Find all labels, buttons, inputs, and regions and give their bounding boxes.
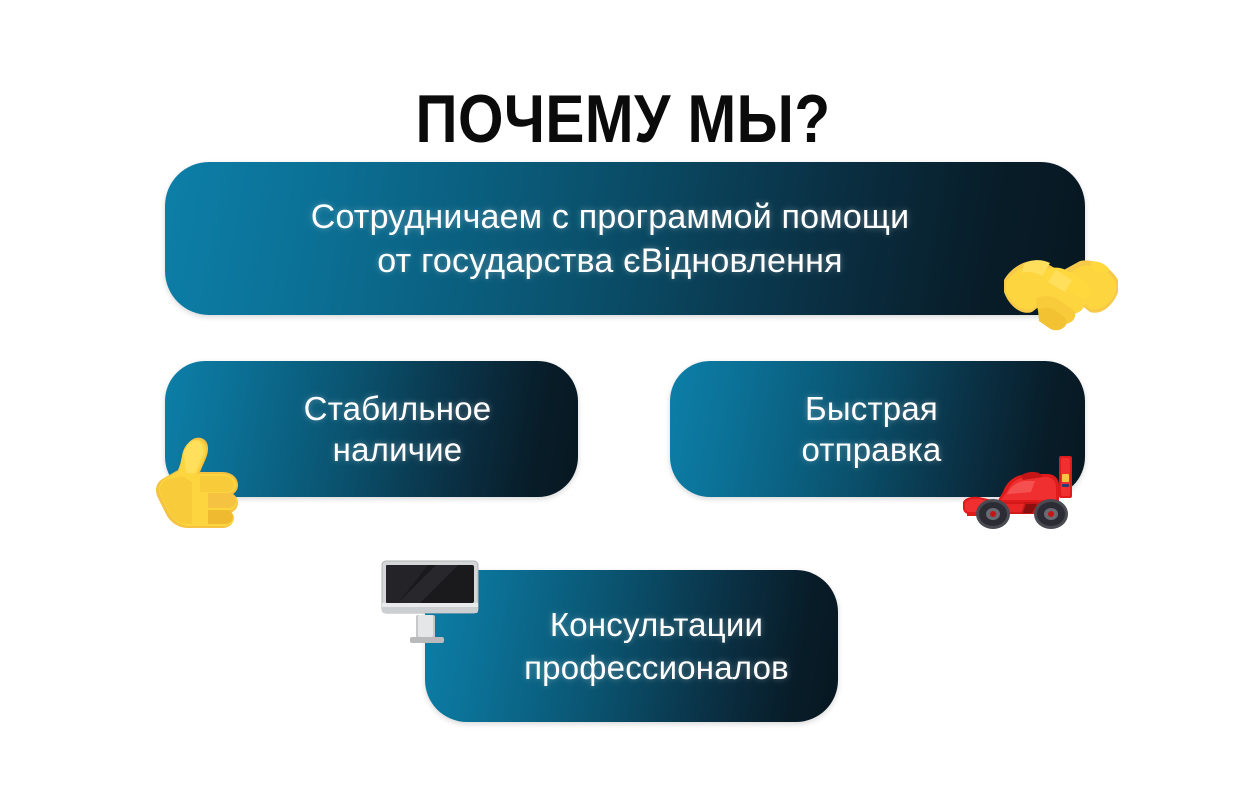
feature-card-shipping-label: Быстрая отправка — [802, 388, 954, 470]
racing-car-icon — [963, 452, 1075, 530]
feature-card-stock-label: Стабильное наличие — [238, 388, 506, 470]
handshake-icon — [1002, 240, 1120, 335]
feature-card-cooperation[interactable]: Сотрудничаем с программой помощи от госу… — [165, 162, 1085, 315]
slide-canvas: ПОЧЕМУ МЫ? Сотрудничаем с программой пом… — [0, 0, 1246, 800]
desktop-computer-icon — [380, 559, 480, 645]
feature-card-cooperation-label: Сотрудничаем с программой помощи от госу… — [281, 195, 970, 283]
feature-card-consulting-label: Консультации профессионалов — [468, 603, 795, 689]
feature-card-consulting[interactable]: Консультации профессионалов — [425, 570, 838, 722]
thumbs-up-icon — [148, 428, 248, 528]
page-title: ПОЧЕМУ МЫ? — [87, 82, 1159, 156]
